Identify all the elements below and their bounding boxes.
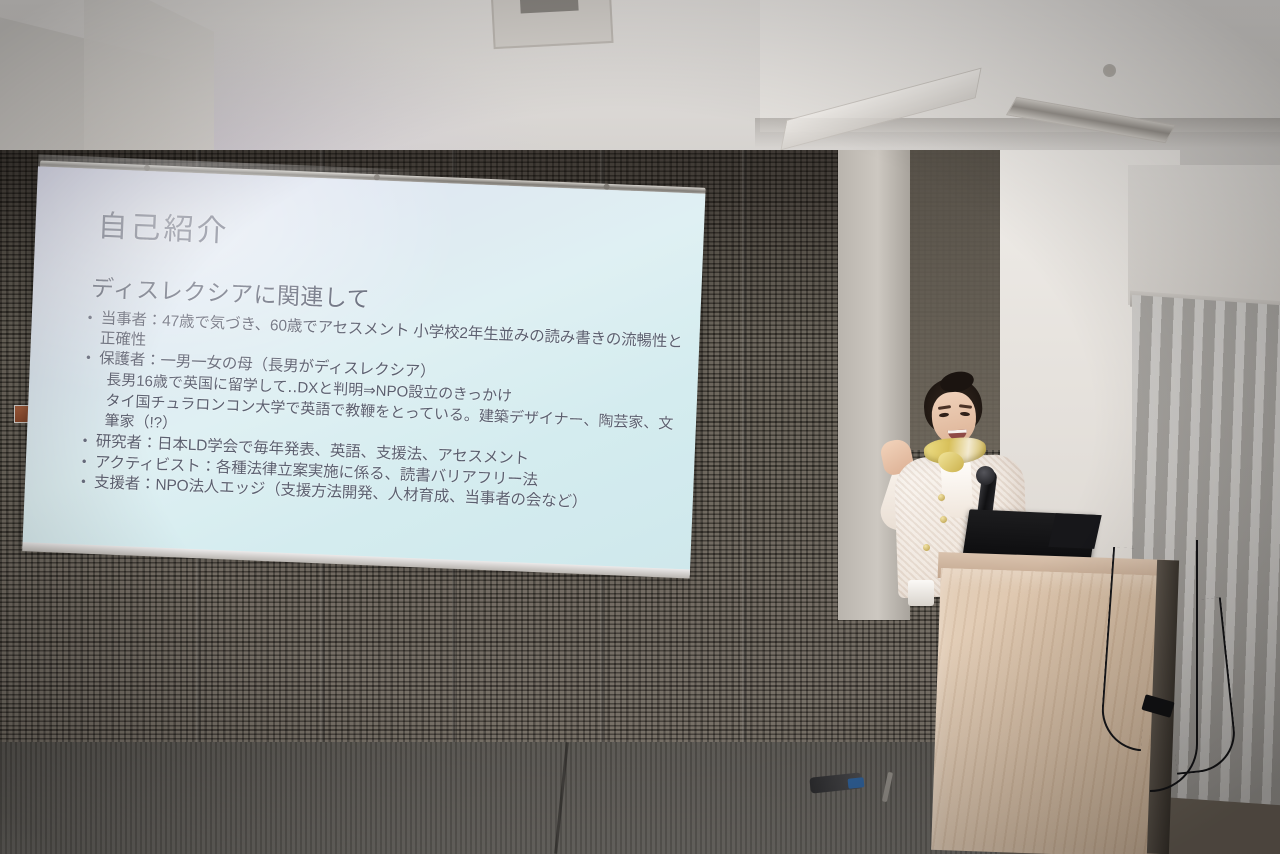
projection-screen: 自己紹介 ディスレクシアに関連して • 当事者：47歳で気づき、60歳でアセスメ… — [22, 154, 708, 581]
drinking-cup — [908, 580, 934, 606]
slide-bullet-list: • 当事者：47歳で気づき、60歳でアセスメント 小学校2年生並みの読み書きの流… — [81, 309, 688, 518]
laptop-screen-side — [1048, 513, 1101, 549]
jacket-button — [938, 494, 945, 501]
slide-subtitle: ディスレクシアに関連して — [90, 269, 370, 314]
slide-content: 自己紹介 ディスレクシアに関連して • 当事者：47歳で気づき、60歳でアセスメ… — [22, 166, 705, 575]
bullet-icon: • — [87, 309, 101, 327]
sprinkler-icon — [1105, 66, 1114, 75]
bullet-icon: • — [82, 432, 96, 450]
curtain-pelmet — [1128, 165, 1280, 305]
jacket-button — [923, 544, 930, 551]
jacket-button — [940, 516, 947, 523]
slide-title: 自己紹介 — [97, 201, 231, 250]
bullet-icon: • — [82, 452, 96, 470]
bullet-icon: • — [86, 349, 100, 367]
presentation-room-photo: 自己紹介 ディスレクシアに関連して • 当事者：47歳で気づき、60歳でアセスメ… — [0, 0, 1280, 854]
bullet-icon: • — [81, 473, 95, 491]
carpet-floor — [0, 742, 1000, 854]
floor-cable-tag — [848, 777, 865, 789]
